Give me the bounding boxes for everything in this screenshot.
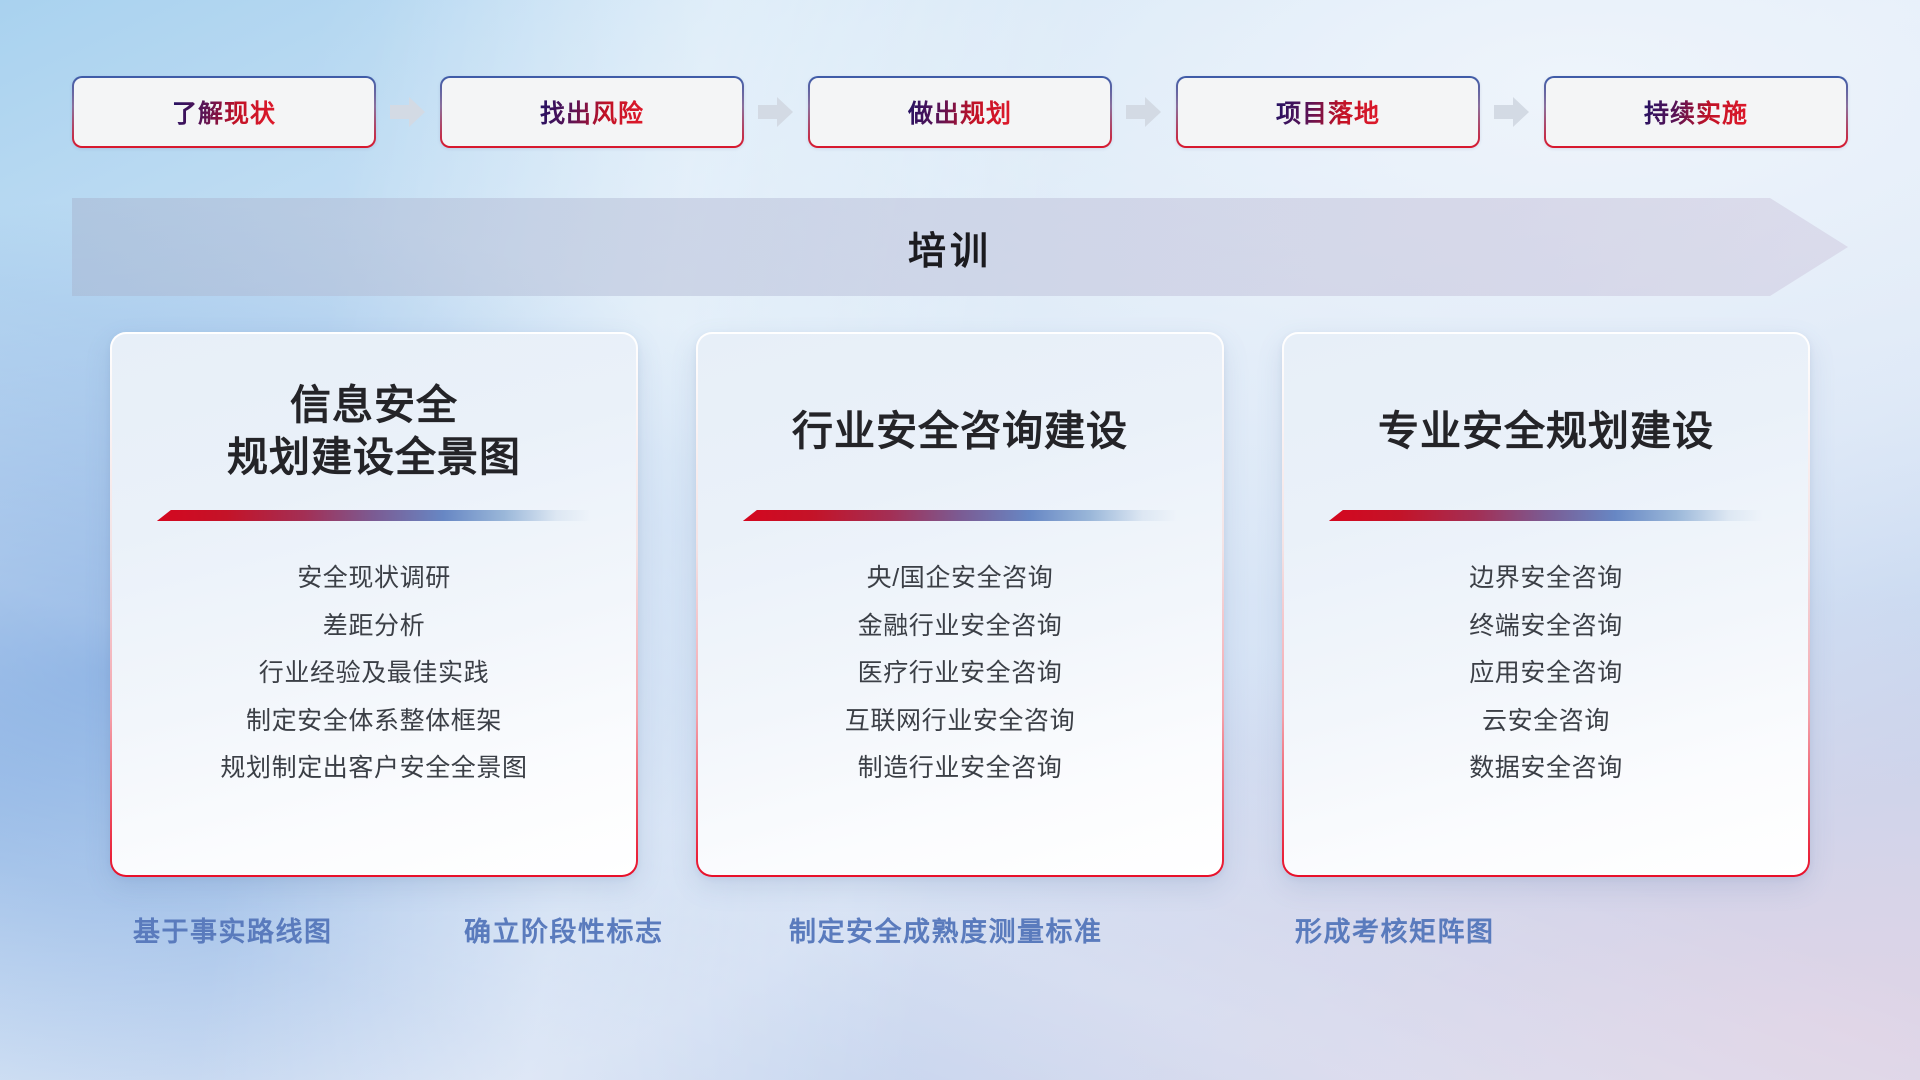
process-step-4[interactable]: 项目落地 xyxy=(1176,76,1480,148)
list-item: 金融行业安全咨询 xyxy=(724,603,1196,651)
bottom-labels-row: 基于事实路线图 确立阶段性标志 制定安全成熟度测量标准 形成考核矩阵图 xyxy=(0,910,1920,970)
list-item: 云安全咨询 xyxy=(1310,698,1782,746)
list-item: 应用安全咨询 xyxy=(1310,650,1782,698)
list-item: 边界安全咨询 xyxy=(1310,555,1782,603)
process-step-1[interactable]: 了解现状 xyxy=(72,76,376,148)
card-divider xyxy=(743,510,1177,521)
card-title-line: 专业安全规划建设 xyxy=(1378,405,1714,457)
cards-row: 信息安全 规划建设全景图 安全现状调研 差距分析 行业经验及最佳实践 制定安全体… xyxy=(110,332,1810,877)
card-divider xyxy=(1329,510,1763,521)
card-list: 安全现状调研 差距分析 行业经验及最佳实践 制定安全体系整体框架 规划制定出客户… xyxy=(138,555,610,793)
card-title: 专业安全规划建设 xyxy=(1378,378,1714,484)
card-list: 央/国企安全咨询 金融行业安全咨询 医疗行业安全咨询 互联网行业安全咨询 制造行… xyxy=(724,555,1196,793)
training-banner: 培训 xyxy=(72,198,1848,296)
list-item: 央/国企安全咨询 xyxy=(724,555,1196,603)
process-step-5[interactable]: 持续实施 xyxy=(1544,76,1848,148)
process-step-row: 了解现状 找出风险 做出规划 项目落地 持续实施 xyxy=(72,76,1848,148)
process-step-label: 项目落地 xyxy=(1276,94,1380,130)
card-title-line: 规划建设全景图 xyxy=(227,431,521,483)
list-item: 制定安全体系整体框架 xyxy=(138,698,610,746)
card-information-security-blueprint[interactable]: 信息安全 规划建设全景图 安全现状调研 差距分析 行业经验及最佳实践 制定安全体… xyxy=(110,332,638,877)
process-step-3[interactable]: 做出规划 xyxy=(808,76,1112,148)
bottom-label-2: 确立阶段性标志 xyxy=(464,910,664,949)
list-item: 规划制定出客户安全全景图 xyxy=(138,745,610,793)
training-banner-title: 培训 xyxy=(908,220,992,275)
bottom-label-4: 形成考核矩阵图 xyxy=(1295,910,1495,949)
card-title: 信息安全 规划建设全景图 xyxy=(227,378,521,484)
list-item: 安全现状调研 xyxy=(138,555,610,603)
right-arrow-icon xyxy=(1480,95,1544,129)
bottom-label-1: 基于事实路线图 xyxy=(133,910,333,949)
card-professional-security-planning[interactable]: 专业安全规划建设 边界安全咨询 终端安全咨询 应用安全咨询 云安全咨询 数据安全… xyxy=(1282,332,1810,877)
right-arrow-icon xyxy=(1112,95,1176,129)
card-industry-security-consulting[interactable]: 行业安全咨询建设 央/国企安全咨询 金融行业安全咨询 医疗行业安全咨询 互联网行… xyxy=(696,332,1224,877)
list-item: 终端安全咨询 xyxy=(1310,603,1782,651)
process-step-2[interactable]: 找出风险 xyxy=(440,76,744,148)
list-item: 制造行业安全咨询 xyxy=(724,745,1196,793)
list-item: 医疗行业安全咨询 xyxy=(724,650,1196,698)
bottom-label-3: 制定安全成熟度测量标准 xyxy=(789,910,1103,949)
process-step-label: 持续实施 xyxy=(1644,94,1748,130)
process-step-label: 做出规划 xyxy=(908,94,1012,130)
card-title-line: 信息安全 xyxy=(227,379,521,431)
right-arrow-icon xyxy=(744,95,808,129)
card-list: 边界安全咨询 终端安全咨询 应用安全咨询 云安全咨询 数据安全咨询 xyxy=(1310,555,1782,793)
card-title: 行业安全咨询建设 xyxy=(792,378,1128,484)
list-item: 互联网行业安全咨询 xyxy=(724,698,1196,746)
process-step-label: 找出风险 xyxy=(540,94,644,130)
right-arrow-icon xyxy=(376,95,440,129)
list-item: 数据安全咨询 xyxy=(1310,745,1782,793)
list-item: 行业经验及最佳实践 xyxy=(138,650,610,698)
card-divider xyxy=(157,510,591,521)
process-step-label: 了解现状 xyxy=(172,94,276,130)
list-item: 差距分析 xyxy=(138,603,610,651)
card-title-line: 行业安全咨询建设 xyxy=(792,405,1128,457)
